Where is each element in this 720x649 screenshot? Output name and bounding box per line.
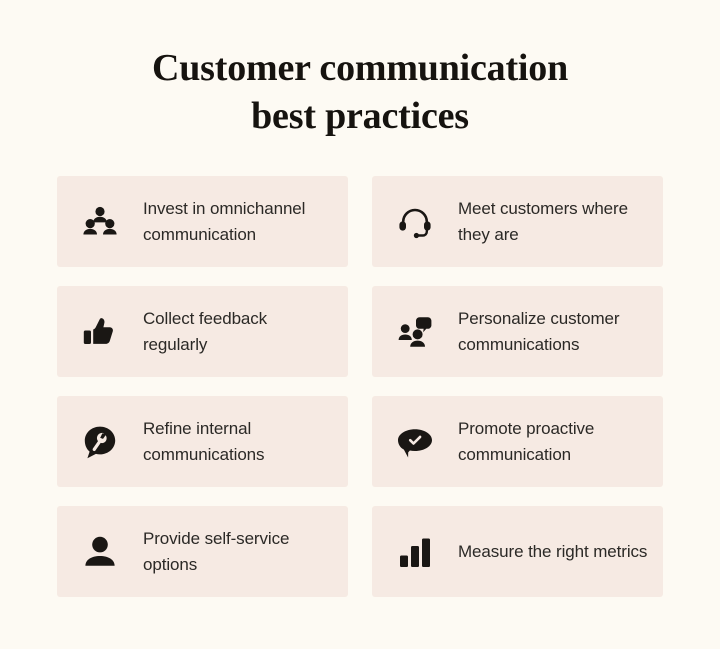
practice-card-label: Personalize customer communications: [458, 306, 648, 358]
practice-card-label: Promote proactive communication: [458, 416, 648, 468]
page-title-line-2: best practices: [0, 92, 720, 140]
speech-bubble-check-icon: [372, 396, 458, 487]
practice-card-label: Meet customers where they are: [458, 196, 648, 248]
practice-card-label: Measure the right metrics: [458, 539, 647, 565]
speech-bubble-wrench-icon: [57, 396, 143, 487]
practice-card-personalize-communications: Personalize customer communications: [372, 286, 663, 377]
page-title-line-1: Customer communication: [152, 47, 568, 89]
page-title: Customer communication best practices: [0, 44, 720, 140]
practice-card-measure-metrics: Measure the right metrics: [372, 506, 663, 597]
headset-icon: [372, 176, 458, 267]
best-practices-grid: Invest in omnichannel communication Meet…: [57, 176, 663, 597]
practice-card-collect-feedback: Collect feedback regularly: [57, 286, 348, 377]
practice-card-label: Invest in omnichannel communication: [143, 196, 333, 248]
practice-card-provide-self-service: Provide self-service options: [57, 506, 348, 597]
practice-card-label: Collect feedback regularly: [143, 306, 333, 358]
practice-card-label: Refine internal communications: [143, 416, 333, 468]
practice-card-refine-internal: Refine internal communications: [57, 396, 348, 487]
two-people-speech-bubble-icon: [372, 286, 458, 377]
practice-card-invest-omnichannel: Invest in omnichannel communication: [57, 176, 348, 267]
infographic-page: Customer communication best practices In…: [0, 0, 720, 649]
bar-chart-icon: [372, 506, 458, 597]
group-of-three-people-icon: [57, 176, 143, 267]
practice-card-meet-customers: Meet customers where they are: [372, 176, 663, 267]
single-person-icon: [57, 506, 143, 597]
practice-card-label: Provide self-service options: [143, 526, 333, 578]
practice-card-promote-proactive: Promote proactive communication: [372, 396, 663, 487]
thumbs-up-icon: [57, 286, 143, 377]
